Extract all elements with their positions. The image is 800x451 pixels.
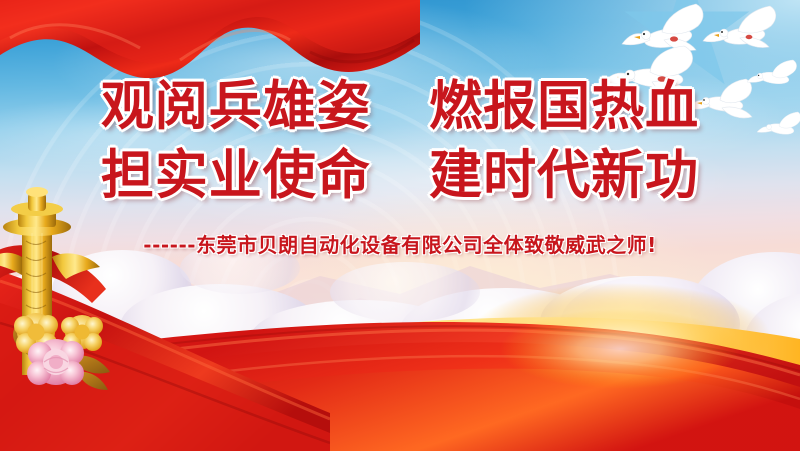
poster-text-block: 观阅兵雄姿 燃报国热血 担实业使命 建时代新功 ------东莞市贝朗自动化设备…	[0, 72, 800, 258]
headline-line-1: 观阅兵雄姿 燃报国热血	[0, 72, 800, 141]
headline-line-2: 担实业使命 建时代新功	[0, 141, 800, 210]
peace-dove-icon	[700, 4, 786, 56]
peony-flowers	[8, 310, 116, 396]
subtitle-company-tribute: ------东莞市贝朗自动化设备有限公司全体致敬威武之师!	[0, 229, 800, 258]
patriotic-poster: 观阅兵雄姿 燃报国热血 担实业使命 建时代新功 ------东莞市贝朗自动化设备…	[0, 0, 800, 451]
